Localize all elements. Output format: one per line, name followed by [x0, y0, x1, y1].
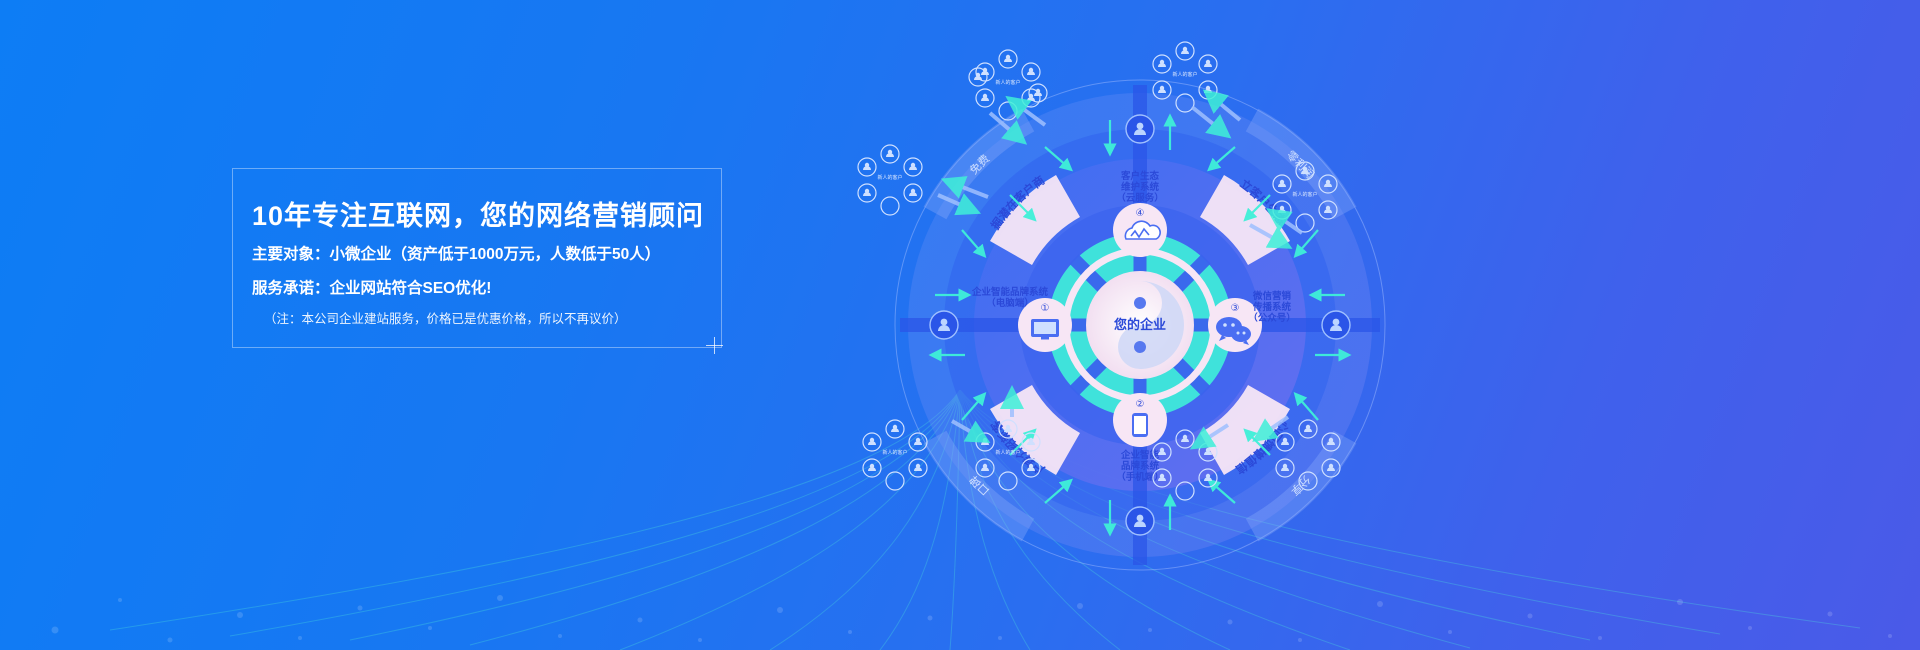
channel-label-cloud-l2: 维护系统: [1121, 181, 1160, 193]
channel-node-phone: ②: [1113, 393, 1167, 447]
marketing-banner: 10年专注互联网，您的网络营销顾问 主要对象：小微企业（资产低于1000万元，人…: [0, 0, 1920, 650]
hero-subline-promise: 服务承诺：企业网站符合SEO优化!: [252, 276, 491, 298]
channel-label-wechat-l1: 微信营销: [1252, 290, 1292, 302]
mobile-phone-icon: [1132, 413, 1148, 437]
cluster-label: 新人的客户: [882, 449, 907, 456]
channel-number-3: ③: [1231, 303, 1240, 314]
ecosystem-wheel-diagram: 建立客户生态链 关心回馈增值信息 客户转介绍新客户 挖掘潜在客户商机 零利润 免…: [840, 0, 1440, 650]
user-group-icon: 新人的客户: [863, 420, 927, 490]
channel-label-phone-l3: （手机端）: [1116, 471, 1164, 483]
channel-label-monitor-l2: （电脑端）: [986, 297, 1034, 309]
center-label: 您的企业: [1114, 317, 1166, 332]
channel-label-phone-l2: 品牌系统: [1121, 460, 1160, 472]
monitor-icon: [1031, 319, 1059, 340]
user-node-icon: [930, 311, 958, 339]
channel-label-monitor-l1: 企业智能品牌系统: [971, 286, 1049, 298]
cluster-label: 新人的客户: [995, 79, 1020, 86]
cluster-label: 新人的客户: [1292, 191, 1317, 198]
channel-number-4: ④: [1136, 208, 1145, 219]
channel-label-cloud-l3: （云服务）: [1116, 192, 1164, 204]
hero-note: （注：本公司企业建站服务，价格已是优惠价格，所以不再议价）: [264, 308, 627, 327]
user-node-icon: [1126, 115, 1154, 143]
user-group-icon: 新人的客户: [969, 50, 1047, 120]
channel-number-1: ①: [1041, 303, 1050, 314]
plus-marker-icon: [706, 337, 723, 354]
cluster-label: 新人的客户: [1172, 71, 1197, 78]
channel-label-cloud-l1: 客户生态: [1120, 170, 1160, 182]
cluster-label: 新人的客户: [877, 174, 902, 181]
channel-label-wechat-l3: （公众号）: [1248, 312, 1296, 324]
cluster-label: 新人的客户: [995, 449, 1020, 456]
channel-node-cloud: ④: [1113, 203, 1167, 257]
channel-number-2: ②: [1136, 399, 1145, 410]
user-group-icon: 新人的客户: [858, 145, 922, 215]
user-node-icon: [1126, 507, 1154, 535]
channel-label-wechat-l2: 传播系统: [1252, 301, 1292, 313]
user-node-icon: [1322, 311, 1350, 339]
hero-subline-target: 主要对象：小微企业（资产低于1000万元，人数低于50人）: [252, 242, 660, 264]
page-title: 10年专注互联网，您的网络营销顾问: [252, 194, 704, 233]
